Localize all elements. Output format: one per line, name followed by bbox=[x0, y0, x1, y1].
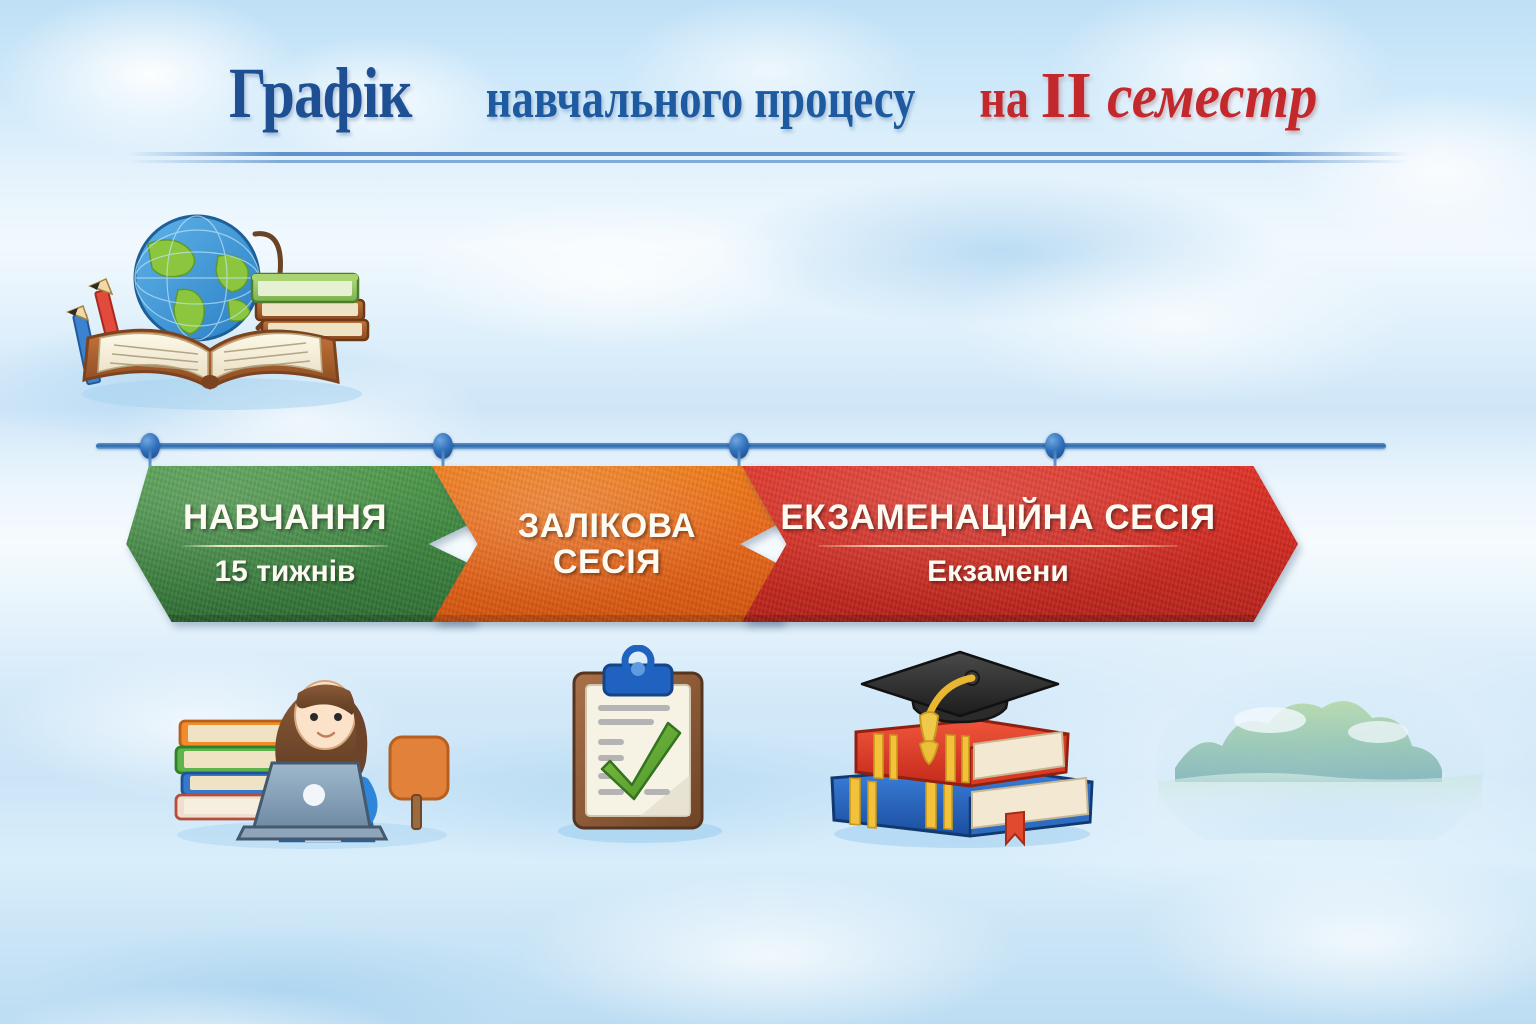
cloud-decoration bbox=[1050, 820, 1536, 1024]
cloud-decoration bbox=[0, 960, 520, 1024]
segment-exam-session-divider bbox=[818, 545, 1178, 547]
title-red-prefix: на bbox=[979, 67, 1028, 131]
title-word-main: Графік bbox=[229, 52, 412, 135]
cloud-decoration bbox=[860, 210, 1500, 440]
landscape-background-illustration bbox=[1150, 650, 1490, 840]
student-with-laptop-illustration bbox=[162, 645, 462, 850]
graduation-cap-books-illustration bbox=[820, 632, 1105, 852]
title-underline-rule bbox=[128, 152, 1410, 164]
cloud-decoration bbox=[330, 170, 890, 380]
segment-exam-session-subtitle: Екзамени bbox=[720, 555, 1276, 589]
segment-study[interactable]: НАВЧАННЯ 15 тижнів bbox=[96, 466, 474, 622]
sky-band-decoration bbox=[620, 150, 1380, 350]
clipboard-checkmark-illustration bbox=[548, 645, 728, 850]
timeline-segments: НАВЧАННЯ 15 тижнів ЗАЛІКОВА СЕСІЯ ЕКЗАМЕ… bbox=[0, 466, 1536, 636]
segment-study-divider bbox=[183, 545, 388, 547]
page-title: Графік навчального процесу на II семестр bbox=[0, 52, 1536, 135]
segment-exam-session-title: ЕКЗАМЕНАЦІЙНА СЕСІЯ bbox=[720, 499, 1276, 536]
infographic-poster: Графік навчального процесу на II семестр bbox=[0, 0, 1536, 1024]
title-word-sub: навчального процесу bbox=[486, 67, 916, 131]
globe-books-pencils-illustration bbox=[52, 182, 382, 412]
segment-study-subtitle: 15 тижнів bbox=[96, 555, 474, 589]
segment-study-title: НАВЧАННЯ bbox=[96, 499, 474, 536]
title-red-numeral: II bbox=[1040, 58, 1091, 134]
sky-band-decoration bbox=[0, 900, 620, 1024]
title-red-word: семестр bbox=[1107, 62, 1317, 133]
cloud-decoration bbox=[420, 840, 1120, 1024]
segment-exam-session[interactable]: ЕКЗАМЕНАЦІЙНА СЕСІЯ Екзамени bbox=[742, 466, 1298, 622]
